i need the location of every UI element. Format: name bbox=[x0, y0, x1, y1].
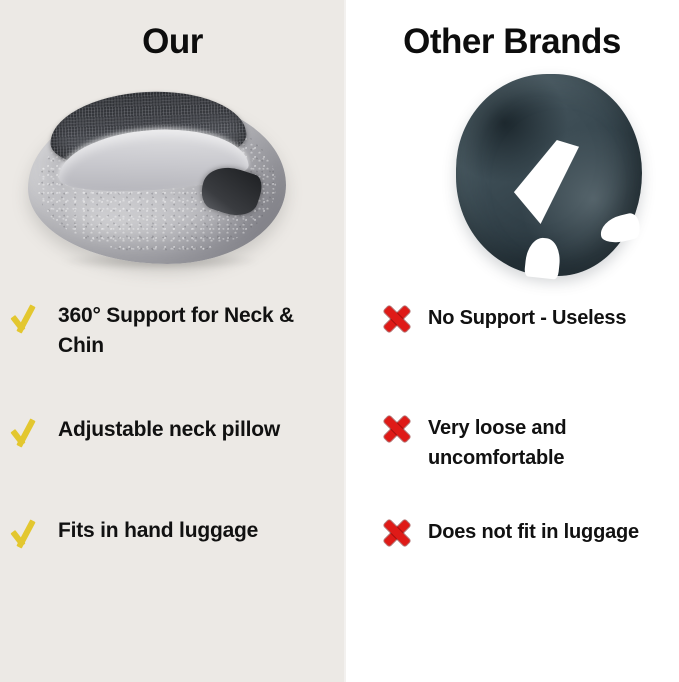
check-icon bbox=[8, 298, 48, 338]
other-feature-row: Does not fit in luggage bbox=[378, 514, 674, 552]
other-neck-pillow-image bbox=[456, 74, 642, 276]
other-feature-row: Very loose and uncomfortable bbox=[378, 410, 674, 473]
other-feature-label: No Support - Useless bbox=[428, 300, 626, 333]
our-feature-label: Fits in hand luggage bbox=[58, 513, 258, 546]
cross-icon bbox=[378, 300, 416, 338]
other-feature-row: No Support - Useless bbox=[378, 300, 674, 338]
our-neck-pillow-image bbox=[28, 92, 286, 264]
other-product-image bbox=[360, 68, 670, 283]
our-column-title: Our bbox=[0, 22, 345, 62]
our-product-image bbox=[10, 82, 335, 272]
column-divider bbox=[344, 0, 346, 682]
comparison-infographic: Our Other Brands 360° Support for Neck &… bbox=[0, 0, 679, 682]
our-feature-row: 360° Support for Neck & Chin bbox=[8, 298, 338, 361]
other-feature-label: Very loose and uncomfortable bbox=[428, 410, 674, 473]
our-feature-label: 360° Support for Neck & Chin bbox=[58, 298, 338, 361]
cross-icon bbox=[378, 410, 416, 448]
other-feature-label: Does not fit in luggage bbox=[428, 514, 639, 547]
cross-icon bbox=[378, 514, 416, 552]
our-feature-row: Fits in hand luggage bbox=[8, 513, 338, 553]
our-feature-row: Adjustable neck pillow bbox=[8, 412, 338, 452]
our-feature-label: Adjustable neck pillow bbox=[58, 412, 280, 445]
check-icon bbox=[8, 513, 48, 553]
other-brands-column-title: Other Brands bbox=[345, 22, 679, 62]
check-icon bbox=[8, 412, 48, 452]
